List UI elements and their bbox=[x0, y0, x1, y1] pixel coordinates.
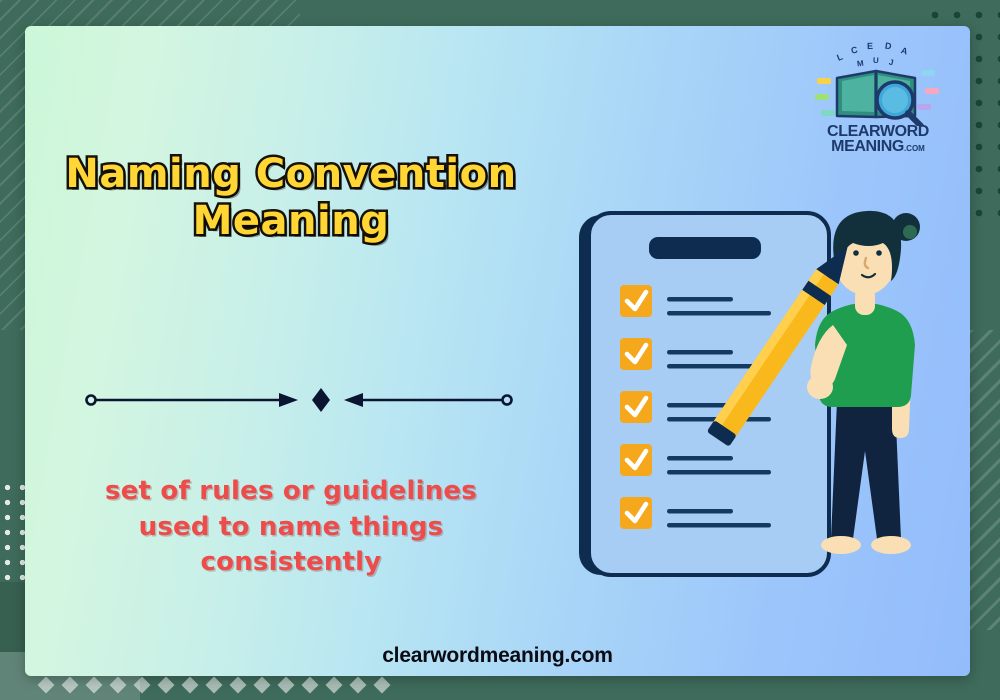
decorative-diamond-row bbox=[40, 679, 388, 691]
brand-logo[interactable]: L C E D A M U J bbox=[808, 38, 948, 154]
brand-line-1: CLEARWORD bbox=[808, 124, 948, 139]
page-title: Naming Convention Meaning bbox=[61, 151, 521, 245]
brand-suffix: .COM bbox=[904, 144, 925, 153]
definition-text: set of rules or guidelines used to name … bbox=[61, 474, 521, 581]
brand-line-2: MEANING bbox=[831, 138, 904, 155]
checklist-illustration bbox=[565, 201, 965, 621]
open-book-magnifier-icon: L C E D A M U J bbox=[813, 38, 943, 126]
brand-name: CLEARWORD MEANING.COM bbox=[808, 124, 948, 154]
definition-line-3: consistently bbox=[61, 545, 521, 581]
definition-line-1: set of rules or guidelines bbox=[61, 474, 521, 510]
title-line-2: Meaning bbox=[61, 198, 521, 245]
decorative-divider bbox=[83, 388, 513, 412]
definition-line-2: used to name things bbox=[61, 510, 521, 546]
title-line-1: Naming Convention bbox=[61, 151, 521, 198]
content-card: L C E D A M U J bbox=[25, 26, 970, 676]
page-backdrop: L C E D A M U J bbox=[0, 0, 1000, 700]
footer-url[interactable]: clearwordmeaning.com bbox=[25, 644, 970, 668]
